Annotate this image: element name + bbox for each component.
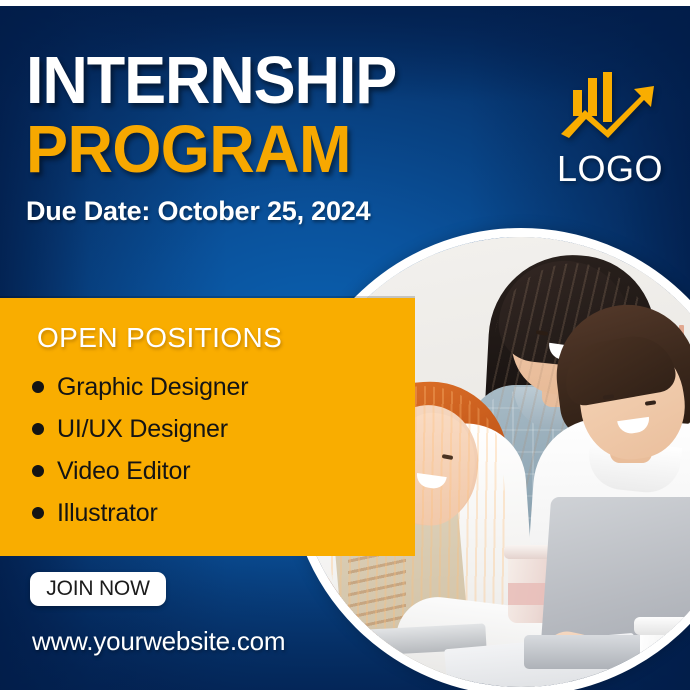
position-label: Illustrator (57, 499, 158, 528)
bullet-icon (32, 465, 44, 477)
position-label: Graphic Designer (57, 373, 248, 402)
bullet-icon (32, 507, 44, 519)
join-now-button[interactable]: JOIN NOW (30, 572, 166, 606)
internship-poster: INTERNSHIP PROGRAM Due Date: October 25,… (0, 0, 690, 690)
takeaway-coffee-cup-lid (634, 617, 690, 635)
open-positions-heading: OPEN POSITIONS (37, 322, 282, 354)
poster-title-line2: PROGRAM (26, 116, 515, 184)
poster-title-line1: INTERNSHIP (26, 48, 515, 114)
logo-text: LOGO (540, 148, 680, 190)
position-label: UI/UX Designer (57, 415, 228, 444)
top-white-strip (0, 0, 690, 6)
bullet-icon (32, 381, 44, 393)
website-url[interactable]: www.yourwebsite.com (32, 626, 285, 657)
list-item: UI/UX Designer (32, 408, 248, 450)
position-label: Video Editor (57, 457, 190, 486)
headline-block: INTERNSHIP PROGRAM Due Date: October 25,… (26, 48, 546, 227)
bullet-icon (32, 423, 44, 435)
takeaway-coffee-cup-sleeve (640, 653, 690, 683)
list-item: Graphic Designer (32, 366, 248, 408)
due-date-text: Due Date: October 25, 2024 (26, 196, 546, 227)
positions-list: Graphic Designer UI/UX Designer Video Ed… (32, 366, 248, 534)
list-item: Video Editor (32, 450, 248, 492)
bar-chart-arrow-icon (555, 72, 665, 144)
list-item: Illustrator (32, 492, 248, 534)
logo: LOGO (540, 72, 680, 190)
